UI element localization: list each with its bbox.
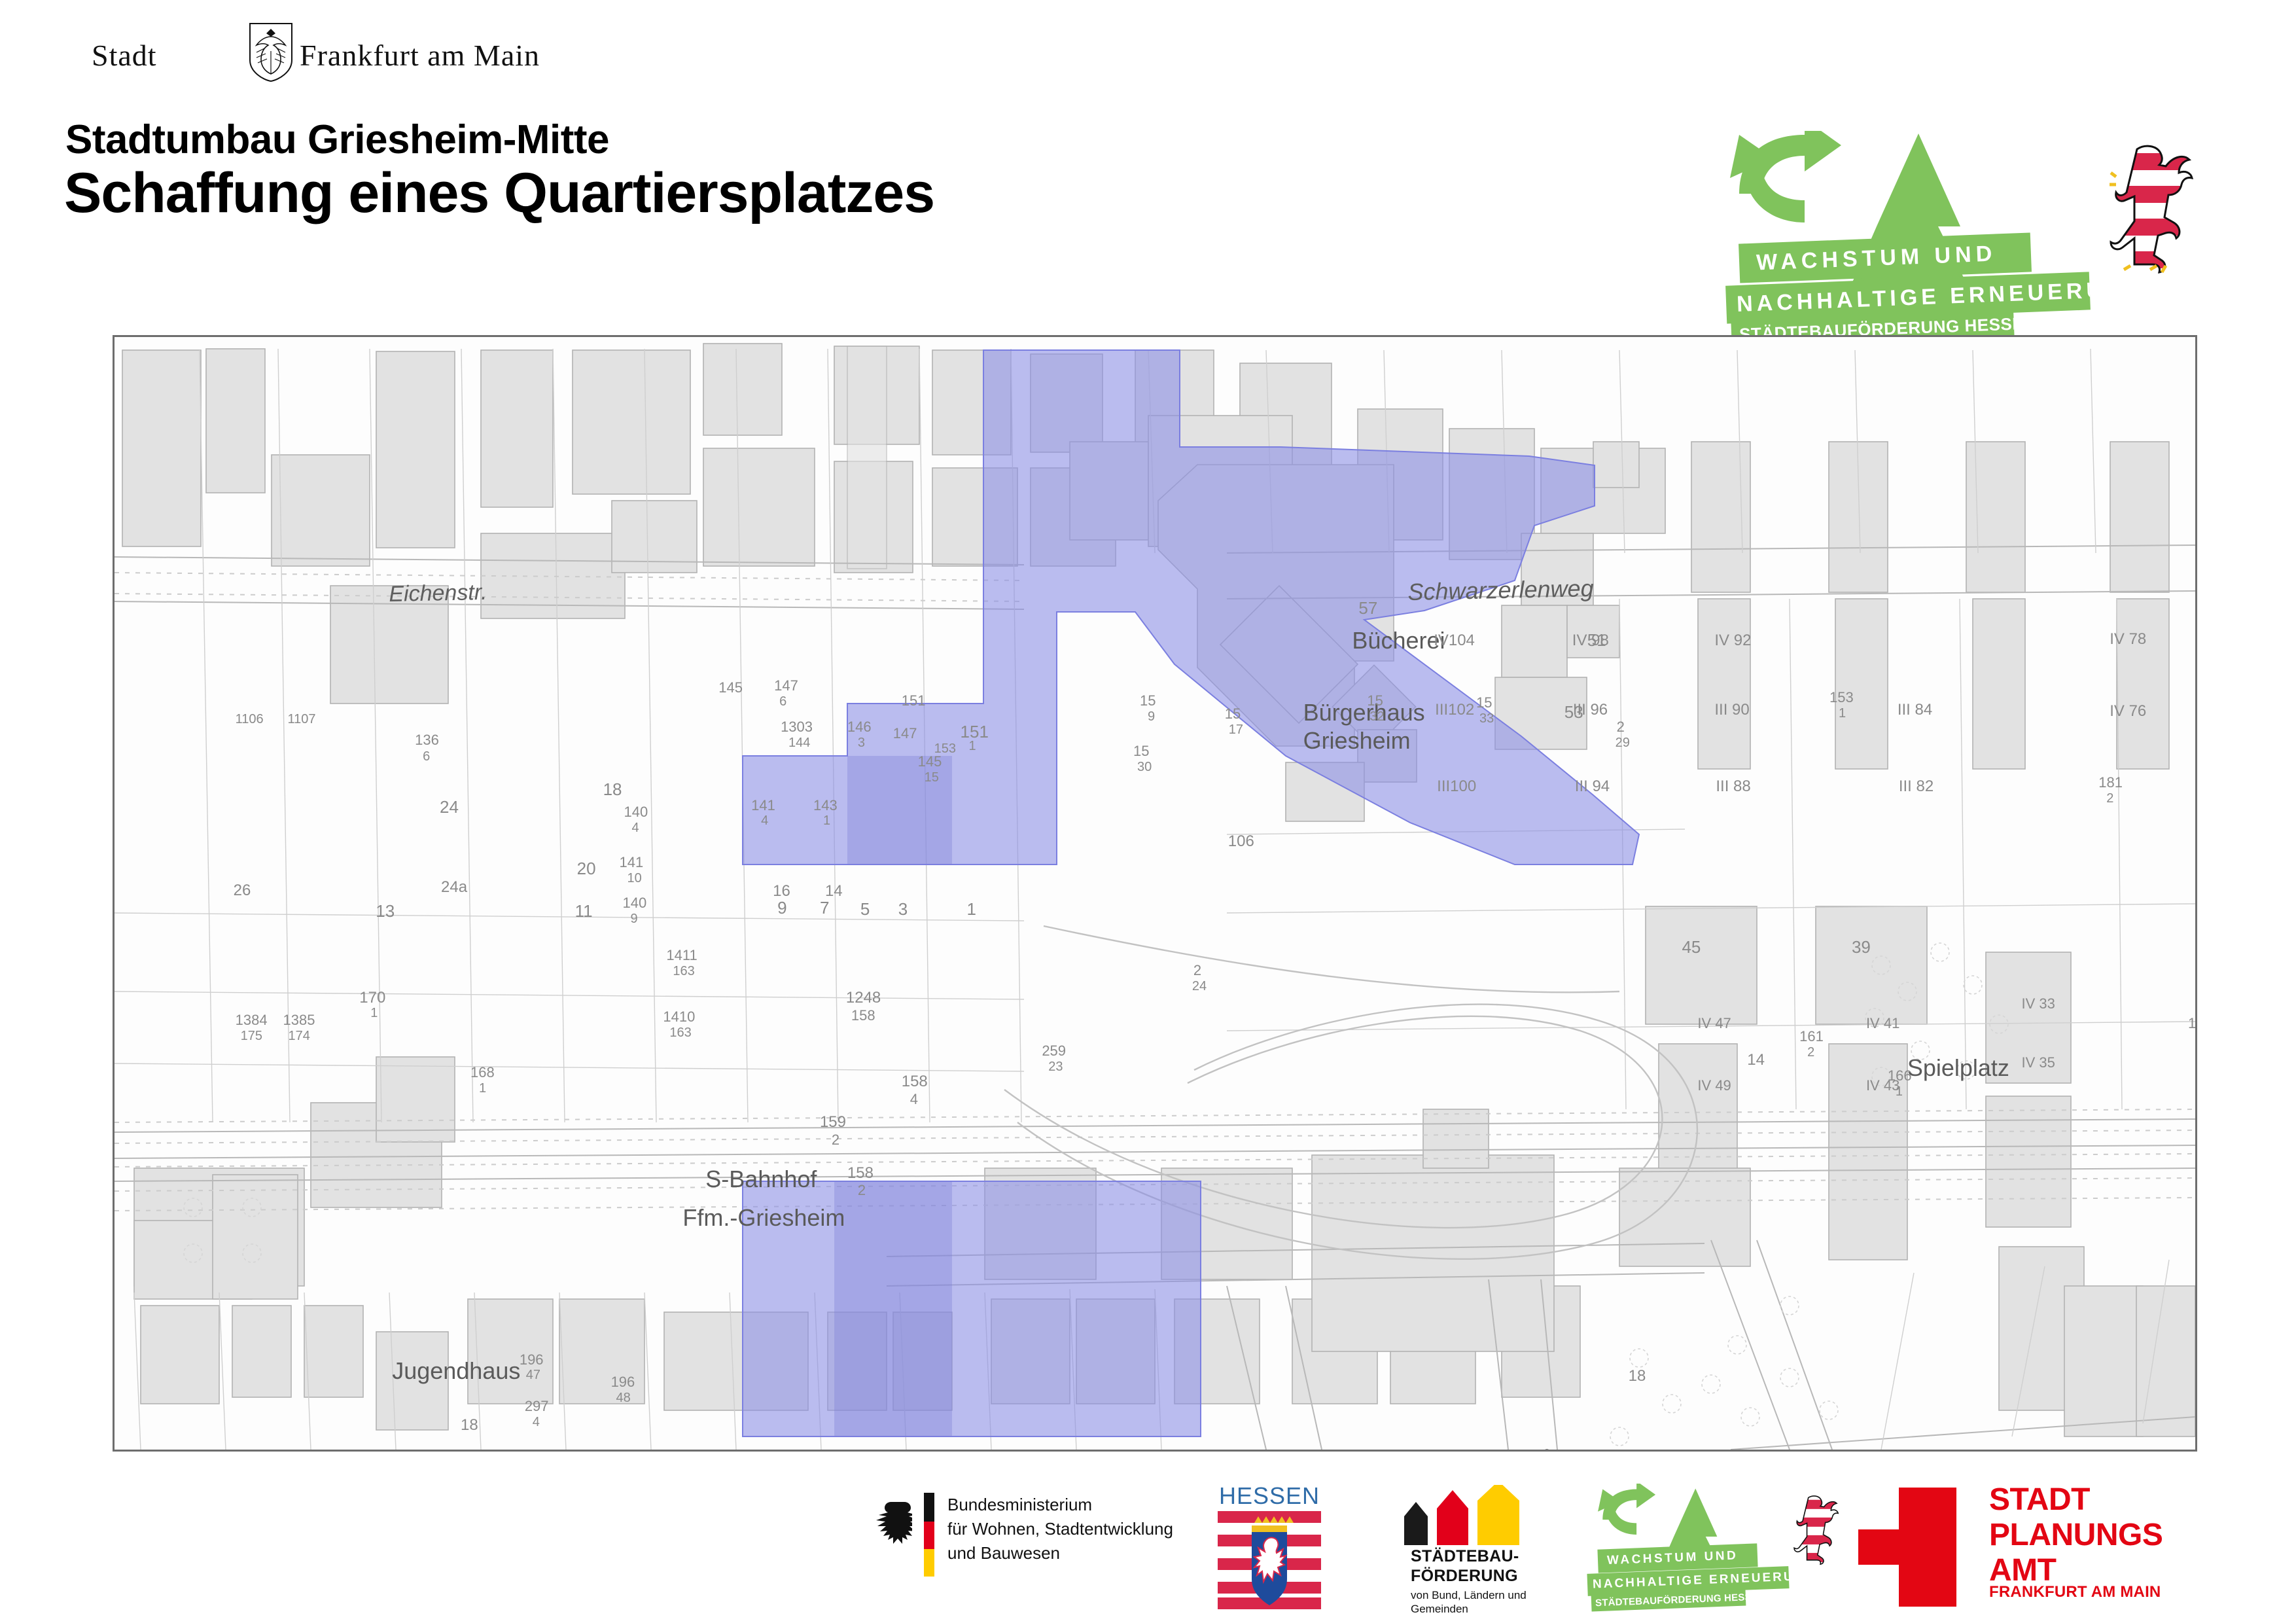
frankfurt-eagle-crest-icon bbox=[247, 20, 294, 82]
parcel-number-label: 15 bbox=[925, 770, 939, 785]
parcel-number-label: 47 bbox=[526, 1368, 540, 1383]
parcel-number-label: 11 bbox=[575, 901, 593, 921]
parcel-number-label: 33 bbox=[1479, 711, 1494, 726]
parcel-number-label: 3 bbox=[898, 899, 908, 919]
parcel-number-label: 15 bbox=[1476, 694, 1492, 711]
parcel-number-label: III100 bbox=[1437, 777, 1476, 796]
parcel-number-label: 171 bbox=[2188, 1015, 2197, 1032]
parcel-number-label: 18 bbox=[603, 779, 622, 800]
parcel-number-label: 18 bbox=[461, 1416, 478, 1435]
parcel-number-label: III 96 bbox=[1573, 701, 1608, 719]
parcel-number-label: 140 bbox=[624, 804, 648, 821]
place-label: Griesheim bbox=[1303, 727, 1411, 755]
parcel-number-label: 136 bbox=[415, 732, 439, 749]
place-label: Spielplatz bbox=[1907, 1054, 2009, 1082]
staedtebau-title-line-1: STÄDTEBAU- bbox=[1411, 1546, 1519, 1566]
parcel-number-label: 15 bbox=[1225, 705, 1241, 722]
staedtebau-title: STÄDTEBAU- FÖRDERUNG bbox=[1411, 1546, 1519, 1586]
city-logo-left-text: Stadt bbox=[92, 38, 157, 73]
parcel-number-label: 2 bbox=[1617, 719, 1625, 736]
parcel-number-label: IV 98 bbox=[1572, 632, 1609, 650]
bmwsb-line-2: für Wohnen, Stadtentwicklung bbox=[947, 1517, 1173, 1541]
parcel-number-label: 17 bbox=[1229, 722, 1243, 738]
parcel-number-label: 32 bbox=[1369, 709, 1384, 724]
bmwsb-logo: Bundesministerium für Wohnen, Stadtentwi… bbox=[870, 1490, 1178, 1588]
three-houses-icon bbox=[1400, 1485, 1557, 1545]
parcel-number-label: 15 bbox=[1133, 743, 1149, 760]
parcel-number-label: 1385 bbox=[283, 1012, 315, 1029]
parcel-number-label: 4 bbox=[2195, 1032, 2197, 1047]
parcel-number-label: 163 bbox=[669, 1026, 691, 1041]
parcel-number-label: 147 bbox=[893, 725, 917, 742]
place-label: S-Bahnhof bbox=[705, 1166, 817, 1193]
parcel-number-label: 5 bbox=[860, 899, 870, 919]
staedtebau-sub-line-2: Gemeinden bbox=[1411, 1602, 1527, 1616]
stadtplanung-subline: FRANKFURT AM MAIN bbox=[1989, 1583, 2161, 1601]
parcel-number-label: 18 bbox=[1629, 1367, 1646, 1385]
parcel-number-label: 24a bbox=[441, 878, 467, 897]
parcel-number-label: 140 bbox=[623, 895, 647, 912]
parcel-number-label: IV 43 bbox=[1866, 1077, 1899, 1094]
parcel-number-label: III 90 bbox=[1714, 701, 1749, 719]
parcel-number-label: 20 bbox=[577, 859, 596, 879]
wachstum-erneuerung-logo-footer: WACHSTUM UND NACHHALTIGE ERNEUERUNG STÄD… bbox=[1597, 1484, 1786, 1608]
parcel-number-label: IV 35 bbox=[2021, 1054, 2055, 1071]
parcel-number-label: 145 bbox=[718, 679, 743, 696]
place-label: Bürgerhaus bbox=[1303, 699, 1425, 726]
parcel-number-label: 9 bbox=[631, 912, 638, 927]
staedtebau-title-line-2: FÖRDERUNG bbox=[1411, 1566, 1519, 1586]
staedtebau-sub-line-1: von Bund, Ländern und bbox=[1411, 1588, 1527, 1602]
parcel-number-label: IV 47 bbox=[1697, 1015, 1731, 1032]
parcel-number-label: 168 bbox=[470, 1064, 495, 1081]
parcel-number-label: 57 bbox=[1358, 598, 1377, 618]
project-subtitle: Stadtumbau Griesheim-Mitte bbox=[65, 116, 609, 163]
parcel-number-label: 1 bbox=[823, 813, 830, 829]
parcel-number-label: 1 bbox=[479, 1081, 486, 1096]
parcel-number-label: 158 bbox=[847, 1164, 874, 1183]
parcel-number-label: 1411 bbox=[666, 947, 697, 964]
parcel-number-label: 7 bbox=[820, 898, 829, 918]
parcel-number-label: 3 bbox=[858, 736, 865, 751]
parcel-number-label: 45 bbox=[1682, 937, 1701, 957]
parcel-number-label: 144 bbox=[788, 736, 810, 751]
parcel-number-label: 26 bbox=[234, 882, 251, 900]
parcel-number-label: 146 bbox=[847, 719, 872, 736]
parcel-number-label: 24 bbox=[440, 797, 459, 817]
parcel-number-label: 15 bbox=[1140, 692, 1156, 709]
parcel-number-label: IV 92 bbox=[1714, 632, 1751, 650]
place-label: Bücherei bbox=[1352, 627, 1445, 654]
parcel-number-label: 2 bbox=[858, 1182, 866, 1199]
parcel-number-label: 4 bbox=[632, 821, 639, 836]
german-flag-bar-icon bbox=[924, 1493, 934, 1577]
parcel-number-label: 259 bbox=[1042, 1043, 1066, 1060]
bmwsb-text: Bundesministerium für Wohnen, Stadtentwi… bbox=[947, 1493, 1173, 1565]
parcel-number-label: 2 bbox=[1193, 962, 1201, 979]
parcel-number-label: 181 bbox=[2098, 774, 2123, 791]
parcel-number-label: 163 bbox=[673, 964, 694, 979]
parcel-number-label: 1106 bbox=[236, 712, 264, 727]
parcel-number-label: 14 bbox=[1747, 1051, 1765, 1069]
parcel-number-label: 2 bbox=[2106, 791, 2113, 806]
bmwsb-line-3: und Bauwesen bbox=[947, 1541, 1173, 1565]
parcel-number-label: 4 bbox=[910, 1091, 918, 1108]
place-label: Jugendhaus bbox=[392, 1357, 520, 1385]
parcel-number-label: 9 bbox=[1148, 709, 1155, 724]
parcel-number-label: 1 bbox=[1839, 706, 1846, 721]
hessen-logo: HESSEN bbox=[1214, 1482, 1325, 1607]
street-label: Schwarzerlenweg bbox=[1407, 575, 1594, 606]
parcel-number-label: 158 bbox=[851, 1007, 875, 1024]
stadtplanung-line-1: STADT bbox=[1989, 1482, 2163, 1518]
parcel-number-label: 23 bbox=[1048, 1060, 1063, 1075]
page-title: Schaffung eines Quartiersplatzes bbox=[64, 161, 934, 226]
parcel-number-label: 175 bbox=[241, 1029, 262, 1044]
parcel-number-label: 6 bbox=[423, 749, 430, 764]
parcel-number-label: IV104 bbox=[1434, 632, 1475, 650]
footer-logo-strip: Bundesministerium für Wohnen, Stadtentwi… bbox=[0, 1476, 2296, 1623]
hessen-wordmark: HESSEN bbox=[1214, 1482, 1325, 1510]
parcel-number-label: 39 bbox=[1852, 937, 1871, 957]
spa-block-mark-icon bbox=[1858, 1488, 1956, 1607]
parcel-number-label: 106 bbox=[1228, 832, 1254, 851]
parcel-number-label: III 84 bbox=[1898, 701, 1932, 719]
parcel-number-label: III 94 bbox=[1575, 777, 1610, 796]
parcel-number-label: 15 bbox=[1367, 692, 1383, 709]
parcel-number-label: 159 bbox=[820, 1113, 846, 1132]
parcel-number-label: 6 bbox=[779, 694, 786, 709]
parcel-number-label: 147 bbox=[774, 677, 798, 694]
parcel-number-label: IV 41 bbox=[1866, 1015, 1899, 1032]
parcel-number-label: 196 bbox=[611, 1374, 635, 1391]
parcel-number-label: 141 bbox=[751, 797, 775, 814]
parcel-number-label: 143 bbox=[813, 797, 838, 814]
parcel-number-label: 30 bbox=[1137, 760, 1152, 775]
city-logo-right-text: Frankfurt am Main bbox=[300, 38, 540, 73]
parcel-number-label: 2 bbox=[832, 1132, 839, 1149]
map-vector-layer bbox=[115, 337, 2195, 1450]
parcel-number-label: III 82 bbox=[1899, 777, 1934, 796]
parcel-number-label: 48 bbox=[616, 1391, 631, 1406]
parcel-number-label: 9 bbox=[777, 898, 786, 918]
parcel-number-label: 1410 bbox=[663, 1008, 695, 1026]
parcel-number-label: 1 bbox=[967, 899, 976, 919]
parcel-number-label: 1107 bbox=[288, 712, 316, 727]
parcel-number-label: 1 bbox=[370, 1006, 378, 1021]
parcel-number-label: 153 bbox=[934, 741, 956, 757]
parcel-number-label: 174 bbox=[288, 1029, 309, 1044]
parcel-number-label: IV 49 bbox=[1697, 1077, 1731, 1094]
bmwsb-line-1: Bundesministerium bbox=[947, 1493, 1173, 1517]
parcel-number-label: 151 bbox=[902, 692, 926, 709]
parcel-number-label: 1248 bbox=[846, 989, 881, 1007]
stadtplanung-line-2: PLANUNGS bbox=[1989, 1518, 2163, 1553]
parcel-number-label: III102 bbox=[1435, 701, 1474, 719]
parcel-number-label: 141 bbox=[620, 854, 644, 871]
parcel-number-label: 29 bbox=[1616, 736, 1630, 751]
parcel-number-label: 1384 bbox=[236, 1012, 268, 1029]
parcel-number-label: 2 bbox=[1807, 1045, 1814, 1060]
parcel-number-label: IV 78 bbox=[2110, 630, 2146, 649]
hessen-shield-icon bbox=[1218, 1511, 1321, 1609]
parcel-number-label: III 88 bbox=[1716, 777, 1750, 796]
staedtebaufoerderung-logo: STÄDTEBAU- FÖRDERUNG von Bund, Ländern u… bbox=[1400, 1485, 1577, 1616]
hessen-lion-icon bbox=[2094, 137, 2205, 288]
stadtplanungsamt-logo: STADT PLANUNGS AMT FRANKFURT AM MAIN bbox=[1858, 1485, 2199, 1609]
street-label: Eichenstr. bbox=[389, 580, 487, 607]
hessen-lion-icon bbox=[1785, 1490, 1845, 1574]
bundesadler-icon bbox=[870, 1499, 912, 1550]
parcel-number-label: 13 bbox=[376, 901, 395, 921]
parcel-number-label: 297 bbox=[525, 1398, 549, 1415]
stadtplanung-wordmark: STADT PLANUNGS AMT bbox=[1989, 1482, 2163, 1588]
parcel-number-label: IV 33 bbox=[2021, 995, 2055, 1012]
parcel-number-label: 10 bbox=[627, 871, 642, 886]
parcel-number-label: 24 bbox=[1192, 979, 1207, 994]
place-label: Ffm.-Griesheim bbox=[682, 1204, 845, 1232]
parcel-number-label: 170 bbox=[359, 989, 385, 1007]
parcel-number-label: IV 76 bbox=[2110, 702, 2146, 721]
parcel-number-label: 153 bbox=[1829, 689, 1854, 706]
parcel-number-label: 1303 bbox=[781, 719, 813, 736]
wachstum-erneuerung-logo: WACHSTUM UND NACHHALTIGE ERNEUERUNG STÄD… bbox=[1727, 131, 2094, 327]
parcel-number-label: 196 bbox=[520, 1351, 544, 1368]
parcel-number-label: 161 bbox=[1799, 1028, 1824, 1045]
cadastral-map[interactable]: Eichenstr.SchwarzerlenwegErzbergerstr.Am… bbox=[113, 335, 2197, 1452]
parcel-number-label: 4 bbox=[761, 813, 768, 829]
staedtebau-sub: von Bund, Ländern und Gemeinden bbox=[1411, 1588, 1527, 1616]
parcel-number-label: 1 bbox=[969, 739, 976, 754]
parcel-number-label: 4 bbox=[533, 1415, 540, 1430]
city-logo: Stadt Frankfurt am Main bbox=[92, 34, 510, 75]
parcel-number-label: 158 bbox=[902, 1073, 928, 1091]
